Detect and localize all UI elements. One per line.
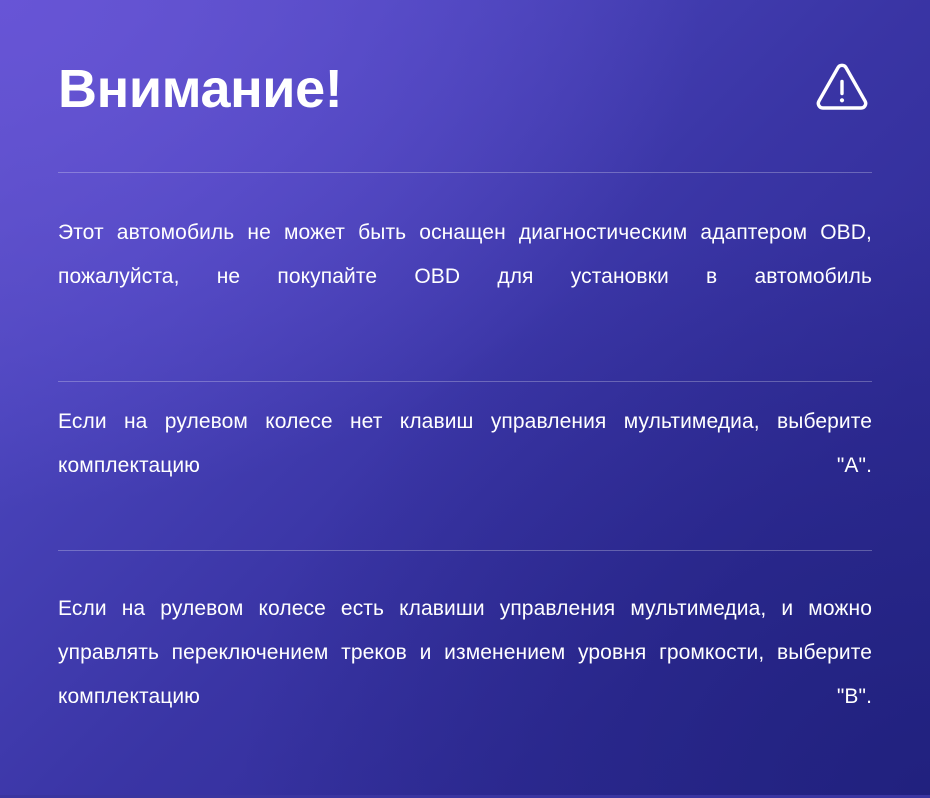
notice-header: Внимание!	[58, 0, 872, 172]
notice-block-option-b: Если на рулевом колесе есть клавиши упра…	[58, 551, 872, 798]
warning-triangle-icon	[814, 61, 870, 117]
notice-block-option-a: Если на рулевом колесе нет клавиш управл…	[58, 382, 872, 550]
warning-notice-card: Внимание! Этот автомобиль не может быть …	[0, 0, 930, 795]
notice-text-obd: Этот автомобиль не может быть оснащен ди…	[58, 211, 872, 343]
notice-text-option-b: Если на рулевом колесе есть клавиши упра…	[58, 587, 872, 763]
notice-block-obd: Этот автомобиль не может быть оснащен ди…	[58, 173, 872, 381]
page-title: Внимание!	[58, 56, 342, 116]
notice-text-option-a: Если на рулевом колесе нет клавиш управл…	[58, 400, 872, 532]
